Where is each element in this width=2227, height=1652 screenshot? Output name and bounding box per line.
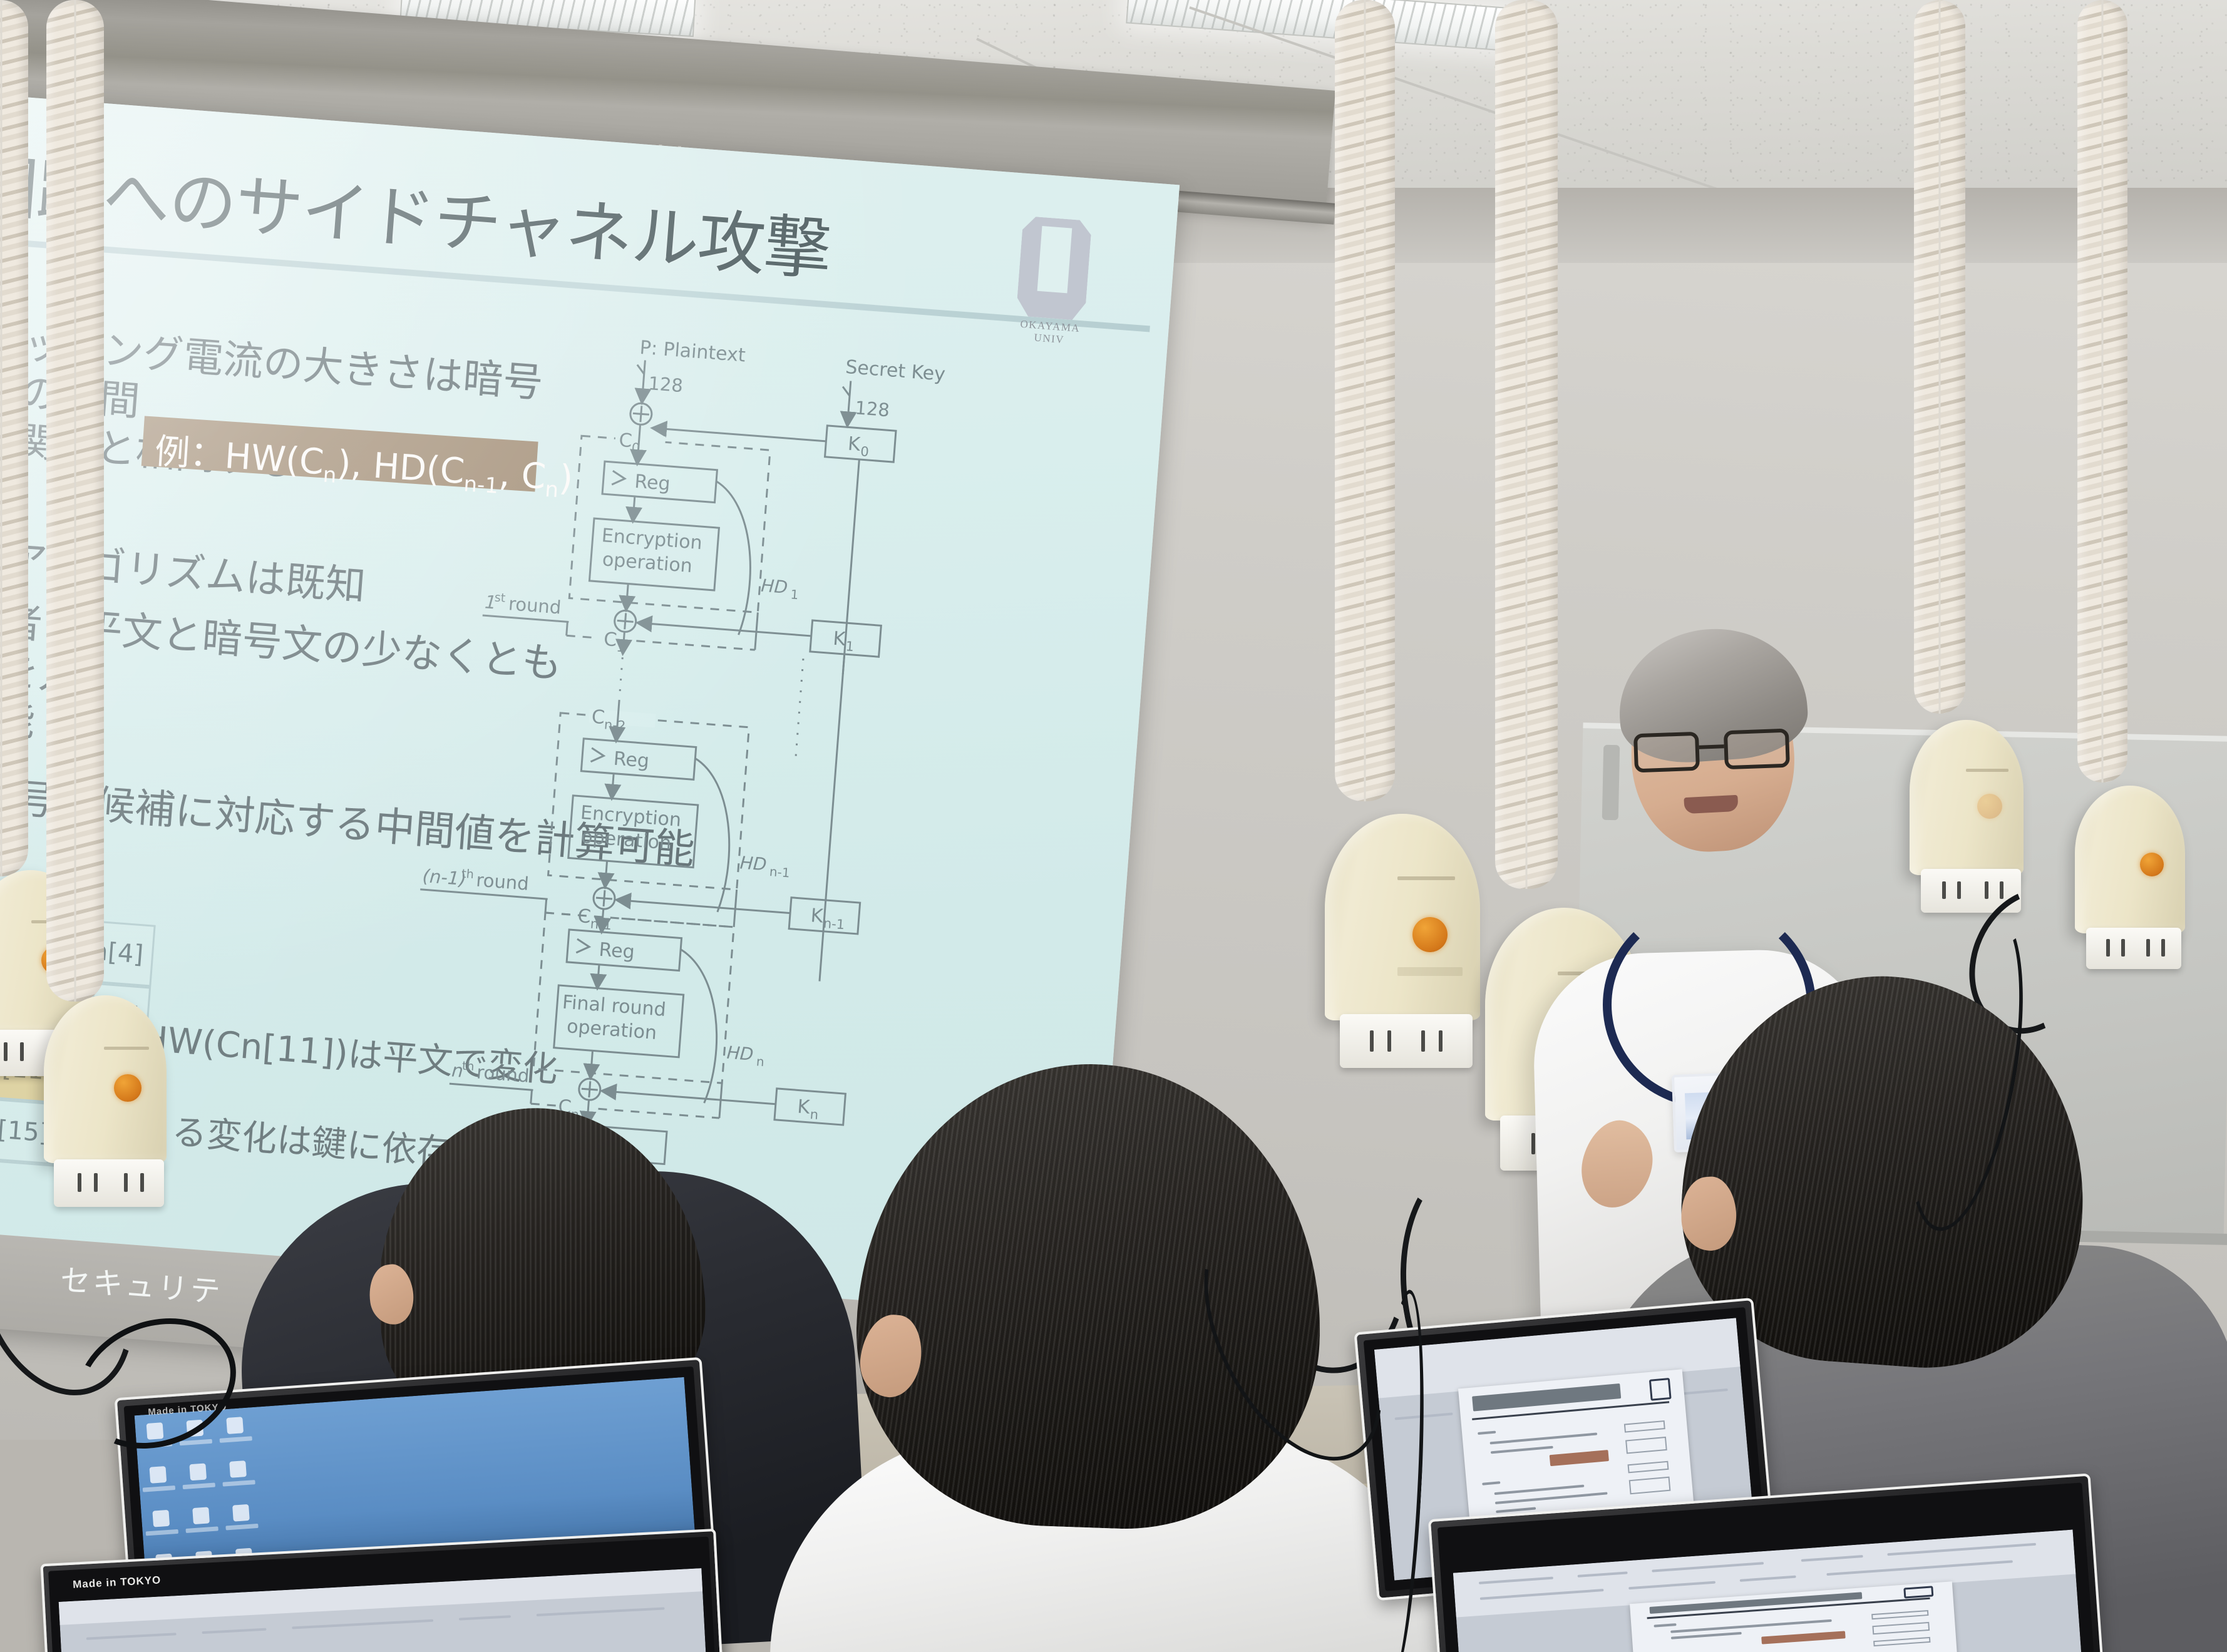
svg-text:0: 0 (860, 444, 869, 459)
svg-text:HD: HD (726, 1042, 754, 1065)
svg-text:th: th (461, 867, 475, 881)
svg-text:HD: HD (739, 852, 768, 875)
svg-text:K: K (847, 433, 862, 456)
svg-text:K: K (810, 905, 825, 927)
whiteboard-pen-holder (1602, 745, 1620, 821)
svg-text:128: 128 (854, 397, 890, 421)
okayama-univ-logo-label: OKAYAMA UNIV (1005, 317, 1094, 349)
svg-text:st: st (494, 590, 506, 605)
svg-text:operation: operation (580, 826, 672, 854)
svg-text:Reg: Reg (634, 471, 671, 495)
power-reel-indicator-led-6 (2140, 853, 2164, 876)
svg-text:operation: operation (566, 1015, 657, 1044)
svg-text:n-2: n-2 (604, 717, 626, 734)
presenter-mouth (1684, 795, 1738, 814)
svg-text:Reg: Reg (613, 748, 650, 772)
svg-text:C: C (603, 628, 618, 651)
svg-text:(n-1): (n-1) (422, 865, 467, 890)
svg-text:Reg: Reg (598, 939, 635, 963)
matrix-note-2: る変化は鍵に依存 (170, 1104, 454, 1176)
lecture-room-photo: AES回路へのサイドチャネル攻撃 OKAYAMA UNIV 仮定 スイッチング電… (0, 0, 2227, 1652)
svg-text:C: C (618, 429, 633, 452)
svg-text:round: round (508, 593, 562, 618)
svg-text:n-1: n-1 (823, 916, 845, 933)
svg-text:C: C (591, 706, 606, 729)
svg-text:operation: operation (602, 548, 693, 577)
svg-text:round: round (476, 1061, 530, 1086)
svg-text:128: 128 (647, 372, 684, 396)
svg-text:K: K (796, 1095, 811, 1118)
presenter-glasses-icon (1633, 729, 1790, 776)
power-reel-indicator-led-2 (114, 1074, 141, 1102)
diagram-label-plaintext: P: Plaintext (639, 337, 747, 367)
svg-text:1: 1 (845, 639, 855, 654)
svg-text:1: 1 (790, 587, 800, 602)
diagram-label-secretkey: Secret Key (845, 356, 946, 386)
svg-text:th: th (461, 1059, 475, 1074)
power-reel-indicator-led-5 (1977, 794, 2002, 819)
svg-text:HD: HD (760, 575, 788, 598)
power-reel-indicator-led-3 (1412, 917, 1448, 952)
svg-text:n: n (756, 1054, 764, 1069)
example-prefix: 例： (153, 431, 226, 476)
svg-text:n: n (810, 1107, 819, 1122)
okayama-univ-logo-icon: OKAYAMA UNIV (1008, 215, 1098, 340)
svg-text:round: round (475, 870, 530, 895)
svg-text:n-1: n-1 (769, 864, 790, 880)
